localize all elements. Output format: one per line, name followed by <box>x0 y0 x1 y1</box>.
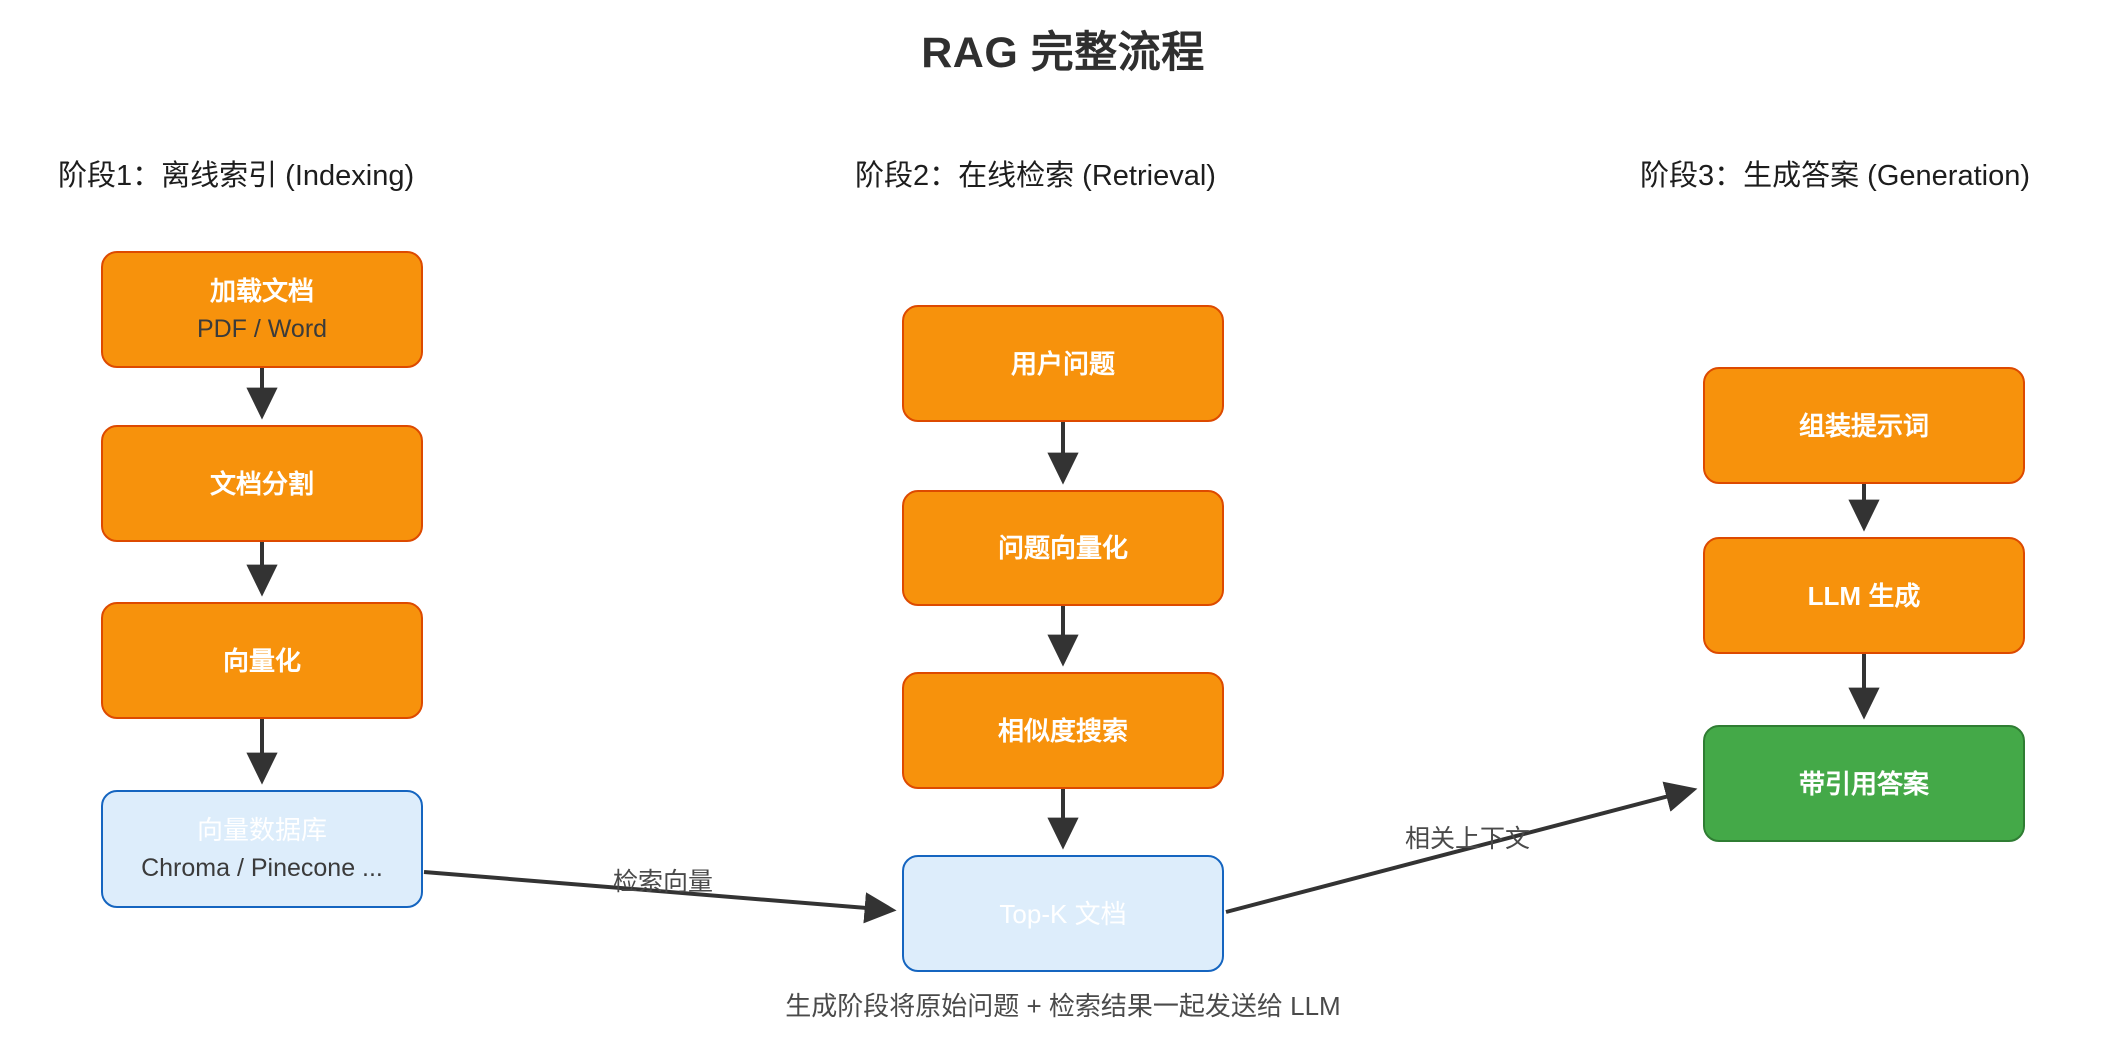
node-label: 向量化 <box>223 648 301 674</box>
stage-label-indexing: 阶段1：离线索引 (Indexing) <box>58 152 414 194</box>
node-label: 用户问题 <box>1011 351 1115 377</box>
footnote-text: 生成阶段将原始问题 + 检索结果一起发送给 LLM <box>0 986 2126 1023</box>
node-embed-query[interactable]: 问题向量化 <box>902 490 1224 606</box>
node-build-prompt[interactable]: 组装提示词 <box>1703 367 2025 484</box>
node-label: 问题向量化 <box>998 535 1128 561</box>
page-title: RAG 完整流程 <box>0 18 2126 80</box>
node-vector-database[interactable]: 向量数据库 Chroma / Pinecone ... <box>101 790 423 908</box>
node-split-documents[interactable]: 文档分割 <box>101 425 423 542</box>
diagram-canvas: RAG 完整流程 阶段1：离线索引 (Indexing) 阶段2：在线检索 (R… <box>0 0 2126 1060</box>
node-label: 加载文档 <box>210 278 314 304</box>
edge-label-relevant-context: 相关上下文 <box>1405 819 1530 855</box>
node-label: 组装提示词 <box>1799 413 1929 439</box>
node-sublabel: Chroma / Pinecone ... <box>141 856 383 881</box>
stage-label-retrieval: 阶段2：在线检索 (Retrieval) <box>855 152 1216 194</box>
node-llm-generate[interactable]: LLM 生成 <box>1703 537 2025 654</box>
node-label: LLM 生成 <box>1808 583 1921 609</box>
stage-label-generation: 阶段3：生成答案 (Generation) <box>1640 152 2030 194</box>
node-label: 相似度搜索 <box>998 718 1128 744</box>
node-label: 文档分割 <box>210 471 314 497</box>
edge-label-retrieve-vectors: 检索向量 <box>613 862 713 898</box>
node-label: 向量数据库 <box>197 817 327 843</box>
node-label: 带引用答案 <box>1799 771 1929 797</box>
node-cited-answer[interactable]: 带引用答案 <box>1703 725 2025 842</box>
node-embed-documents[interactable]: 向量化 <box>101 602 423 719</box>
node-topk-documents[interactable]: Top-K 文档 <box>902 855 1224 972</box>
node-sublabel: PDF / Word <box>197 317 327 342</box>
node-label: Top-K 文档 <box>999 901 1126 927</box>
node-user-question[interactable]: 用户问题 <box>902 305 1224 422</box>
node-similarity-search[interactable]: 相似度搜索 <box>902 672 1224 789</box>
node-load-documents[interactable]: 加载文档 PDF / Word <box>101 251 423 368</box>
